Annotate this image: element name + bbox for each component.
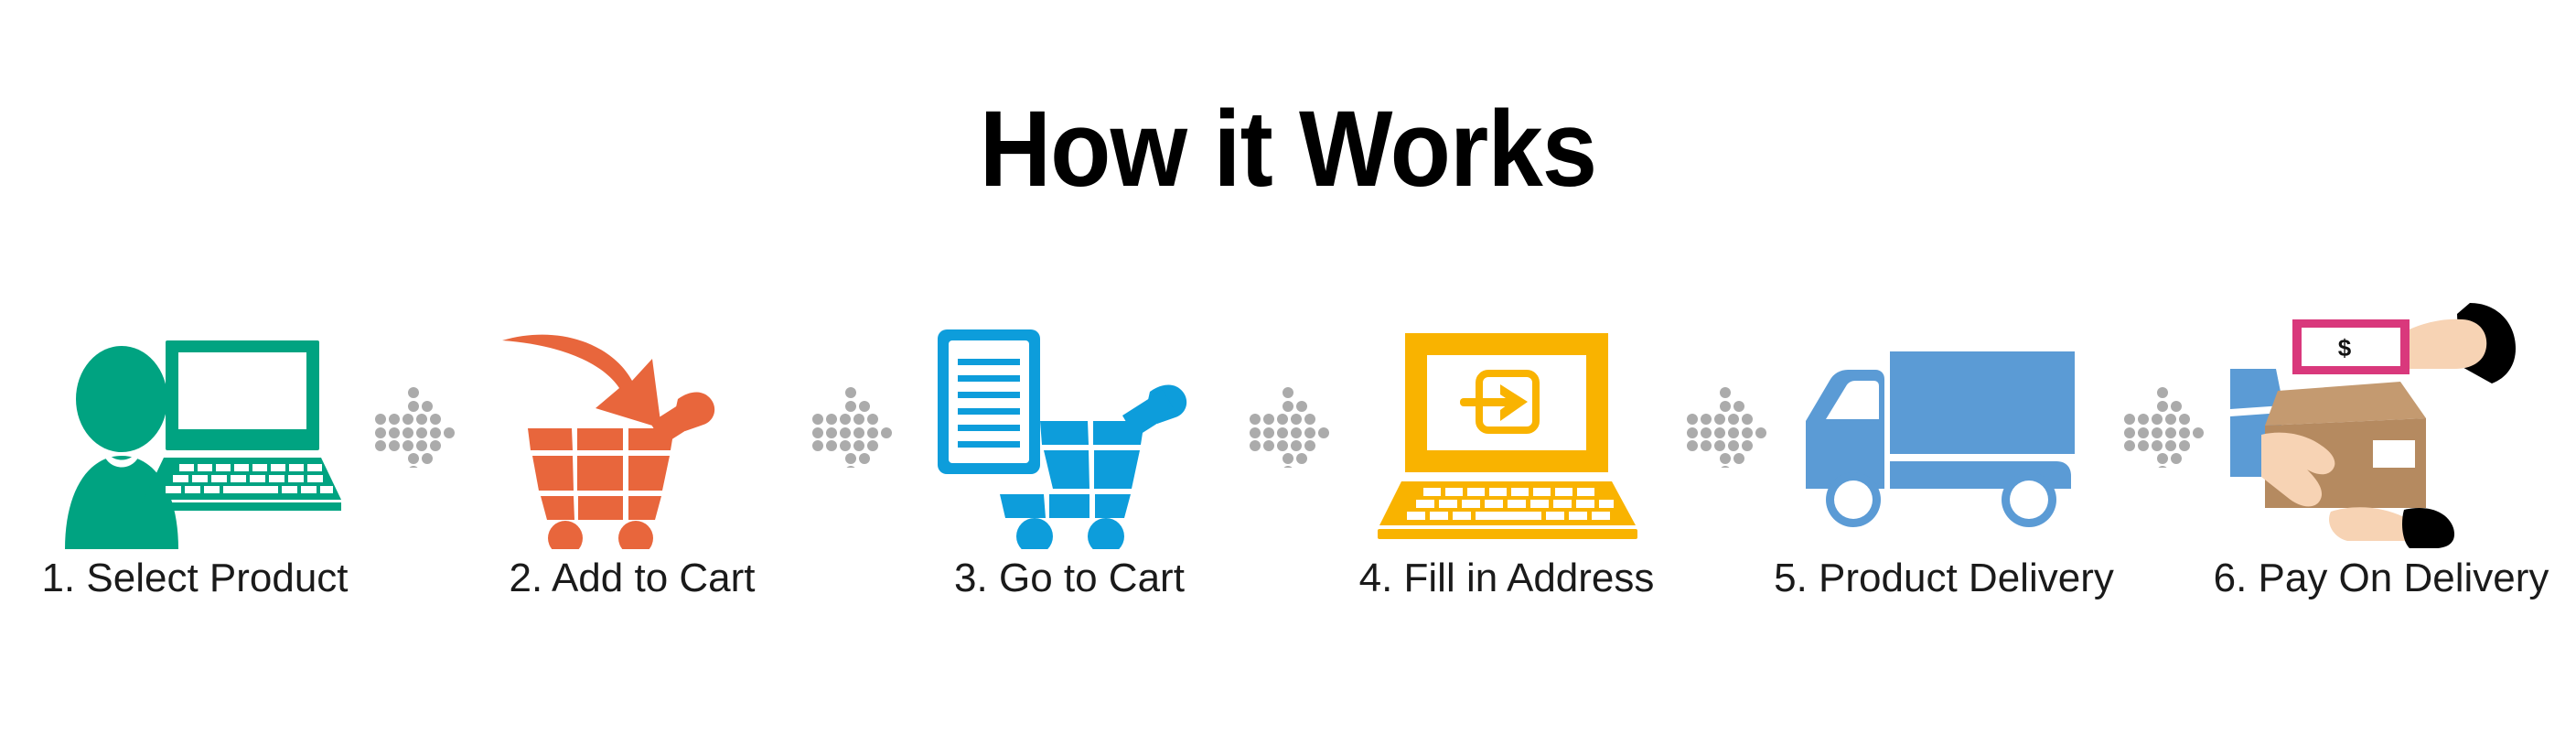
shopping-cart-with-arrow-icon: [495, 320, 769, 549]
separator-2: [802, 302, 899, 549]
person-with-laptop-icon: [48, 320, 341, 549]
separator-5: [2114, 302, 2211, 549]
step-3-label: 3. Go to Cart: [954, 555, 1185, 602]
step-5-product-delivery[interactable]: 5. Product Delivery: [1774, 302, 2114, 632]
step-5-icon-slot: [1774, 302, 2114, 549]
dotted-arrow-right-icon: [371, 383, 456, 468]
black-sleeve-bottom: [2402, 508, 2454, 548]
dotted-arrow-right-icon: [1683, 383, 1767, 468]
step-1-icon-slot: [25, 302, 365, 549]
step-6-icon-slot: $: [2211, 302, 2551, 549]
step-5-label: 5. Product Delivery: [1774, 555, 2114, 602]
step-1-select-product[interactable]: 1. Select Product: [25, 302, 365, 632]
banknote-dollar-symbol: $: [2338, 334, 2352, 362]
step-1-label: 1. Select Product: [41, 555, 348, 602]
dotted-arrow-right-icon: [1246, 383, 1330, 468]
step-2-add-to-cart[interactable]: 2. Add to Cart: [462, 302, 802, 632]
box-top-face: [2265, 382, 2426, 426]
step-4-fill-in-address[interactable]: 4. Fill in Address: [1336, 302, 1677, 632]
step-2-icon-slot: [462, 302, 802, 549]
step-2-label: 2. Add to Cart: [509, 555, 755, 602]
step-6-label: 6. Pay On Delivery: [2214, 555, 2549, 602]
steps-row: 1. Select Product: [0, 302, 2576, 632]
laptop-with-login-arrow-icon: [1365, 320, 1648, 549]
cash-on-delivery-icon: $: [2230, 297, 2532, 549]
separator-4: [1677, 302, 1774, 549]
box-shipping-label: [2373, 440, 2415, 468]
separator-1: [365, 302, 462, 549]
separator-3: [1240, 302, 1336, 549]
how-it-works-infographic: How it Works: [0, 0, 2576, 745]
dotted-arrow-right-icon: [2120, 383, 2205, 468]
step-4-label: 4. Fill in Address: [1359, 555, 1655, 602]
document-with-cart-icon: [932, 320, 1207, 549]
step-6-pay-on-delivery[interactable]: $ 6. Pay: [2211, 302, 2551, 632]
step-3-icon-slot: [899, 302, 1240, 549]
delivery-truck-icon: [1793, 320, 2095, 549]
dotted-arrow-right-icon: [809, 383, 893, 468]
page-title: How it Works: [103, 95, 2474, 203]
step-3-go-to-cart[interactable]: 3. Go to Cart: [899, 302, 1240, 632]
step-4-icon-slot: [1336, 302, 1677, 549]
